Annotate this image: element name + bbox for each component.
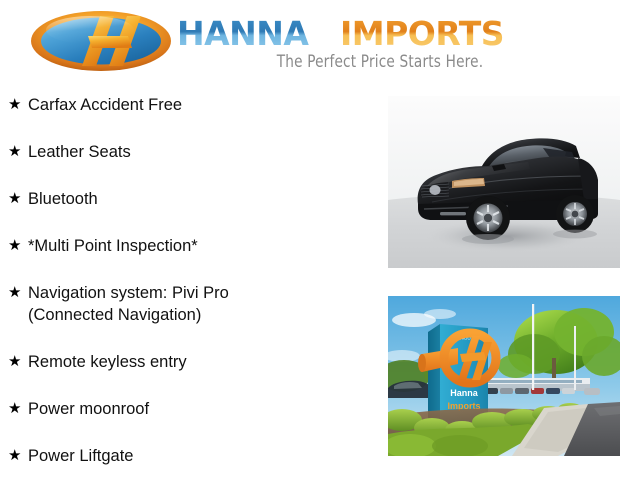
list-item: ★ Remote keyless entry [8, 351, 368, 373]
list-item: ★ Carfax Accident Free [8, 94, 368, 116]
wordmark-hanna: HANNA [177, 14, 309, 53]
feature-label: Power Liftgate [28, 445, 368, 467]
star-bullet-icon: ★ [8, 445, 28, 466]
star-bullet-icon: ★ [8, 188, 28, 209]
feature-label: Power moonroof [28, 398, 368, 420]
brand-logo-lockup[interactable]: HANNA IMPORTS The Perfect Price Starts H… [30, 6, 530, 82]
feature-label: Carfax Accident Free [28, 94, 368, 116]
wordmark-imports: IMPORTS [340, 14, 504, 53]
feature-label: Bluetooth [28, 188, 368, 210]
star-bullet-icon: ★ [8, 282, 28, 303]
list-item: ★ Power moonroof [8, 398, 368, 420]
list-item: ★ Bluetooth [8, 188, 368, 210]
list-item: ★ Power Liftgate [8, 445, 368, 467]
sign-text-hanna: Hanna [450, 388, 479, 398]
star-bullet-icon: ★ [8, 351, 28, 372]
vehicle-feature-list: ★ Carfax Accident Free ★ Leather Seats ★… [0, 88, 380, 480]
dealership-sign-photo[interactable]: 2400 Hanna Imports [388, 296, 620, 456]
hanna-oval-emblem-icon [30, 10, 172, 72]
star-bullet-icon: ★ [8, 141, 28, 162]
feature-label: Navigation system: Pivi Pro (Connected N… [28, 282, 368, 326]
brand-tagline: The Perfect Price Starts Here. [237, 52, 522, 74]
list-item: ★ *Multi Point Inspection* [8, 235, 368, 257]
brand-wordmark: HANNA IMPORTS [177, 14, 527, 54]
list-item: ★ Navigation system: Pivi Pro (Connected… [8, 282, 368, 326]
feature-label: *Multi Point Inspection* [28, 235, 368, 257]
feature-label: Leather Seats [28, 141, 368, 163]
vehicle-photo[interactable] [388, 96, 620, 268]
header-banner: HANNA IMPORTS The Perfect Price Starts H… [0, 0, 640, 88]
star-bullet-icon: ★ [8, 235, 28, 256]
star-bullet-icon: ★ [8, 94, 28, 115]
star-bullet-icon: ★ [8, 398, 28, 419]
feature-label: Remote keyless entry [28, 351, 368, 373]
list-item: ★ Leather Seats [8, 141, 368, 163]
